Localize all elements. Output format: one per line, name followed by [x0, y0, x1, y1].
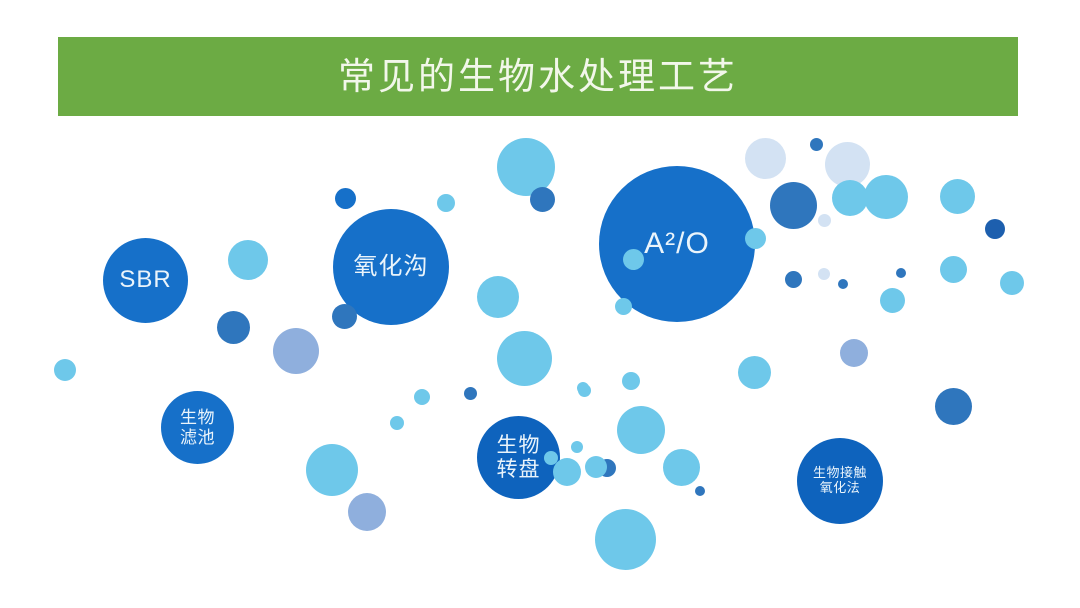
decorative-bubble-b41: [935, 388, 972, 425]
decorative-bubble-b45: [695, 486, 705, 496]
decorative-bubble-b12: [464, 387, 477, 400]
decorative-bubble-b49: [553, 458, 581, 486]
decorative-bubble-b31: [896, 268, 906, 278]
decorative-bubble-b27: [985, 219, 1005, 239]
bubble-label: 氧化沟: [354, 254, 429, 281]
decorative-bubble-b35: [738, 356, 771, 389]
decorative-bubble-b38: [623, 249, 644, 270]
decorative-bubble-b30: [838, 279, 848, 289]
decorative-bubble-b39: [617, 406, 665, 454]
decorative-bubble-b17: [530, 187, 555, 212]
decorative-bubble-b13: [306, 444, 358, 496]
decorative-bubble-b18: [745, 138, 786, 179]
decorative-bubble-b47: [571, 441, 583, 453]
decorative-bubble-b22: [832, 180, 868, 216]
decorative-bubble-b37: [615, 298, 632, 315]
decorative-bubble-b33: [880, 288, 905, 313]
decorative-bubble-b11: [414, 389, 430, 405]
decorative-bubble-b29: [818, 268, 830, 280]
decorative-bubble-b32: [940, 256, 967, 283]
decorative-bubble-b25: [818, 214, 831, 227]
decorative-bubble-b04: [54, 359, 76, 381]
decorative-bubble-b44: [595, 509, 656, 570]
decorative-bubble-b50: [1000, 271, 1024, 295]
decorative-bubble-b14: [348, 493, 386, 531]
decorative-bubble-b23: [864, 175, 908, 219]
bubble-label: SBR: [119, 267, 171, 294]
decorative-bubble-b15: [390, 416, 404, 430]
decorative-bubble-b07: [437, 194, 455, 212]
decorative-bubble-b03: [273, 328, 319, 374]
title-banner: 常见的生物水处理工艺: [58, 37, 1018, 116]
bubble-label: 生物 转盘: [497, 434, 541, 481]
page-title: 常见的生物水处理工艺: [338, 58, 738, 95]
decorative-bubble-b06: [335, 188, 356, 209]
decorative-bubble-b21: [770, 182, 817, 229]
decorative-bubble-b02: [217, 311, 250, 344]
decorative-bubble-b09: [477, 276, 519, 318]
decorative-bubble-b40: [577, 382, 589, 394]
bubble-bio-filter[interactable]: 生物 滤池: [161, 391, 234, 464]
decorative-bubble-b10: [497, 331, 552, 386]
decorative-bubble-b43: [663, 449, 700, 486]
decorative-bubble-b05: [332, 304, 357, 329]
bubble-label: 生物接触 氧化法: [813, 466, 867, 495]
decorative-bubble-b01: [228, 240, 268, 280]
bubble-label: 生物 滤池: [180, 408, 215, 446]
decorative-bubble-b19: [810, 138, 823, 151]
decorative-bubble-b28: [785, 271, 802, 288]
decorative-bubble-b26: [745, 228, 766, 249]
decorative-bubble-b24: [940, 179, 975, 214]
bubble-sbr[interactable]: SBR: [103, 238, 188, 323]
bubble-field: SBR氧化沟A²/O生物 滤池生物 转盘生物接触 氧化法: [0, 116, 1080, 608]
bubble-contact-oxidation[interactable]: 生物接触 氧化法: [797, 438, 883, 524]
decorative-bubble-b36: [622, 372, 640, 390]
decorative-bubble-b48: [585, 456, 607, 478]
decorative-bubble-b34: [840, 339, 868, 367]
slide-canvas: 常见的生物水处理工艺 SBR氧化沟A²/O生物 滤池生物 转盘生物接触 氧化法: [0, 0, 1080, 608]
bubble-label: A²/O: [644, 227, 710, 261]
